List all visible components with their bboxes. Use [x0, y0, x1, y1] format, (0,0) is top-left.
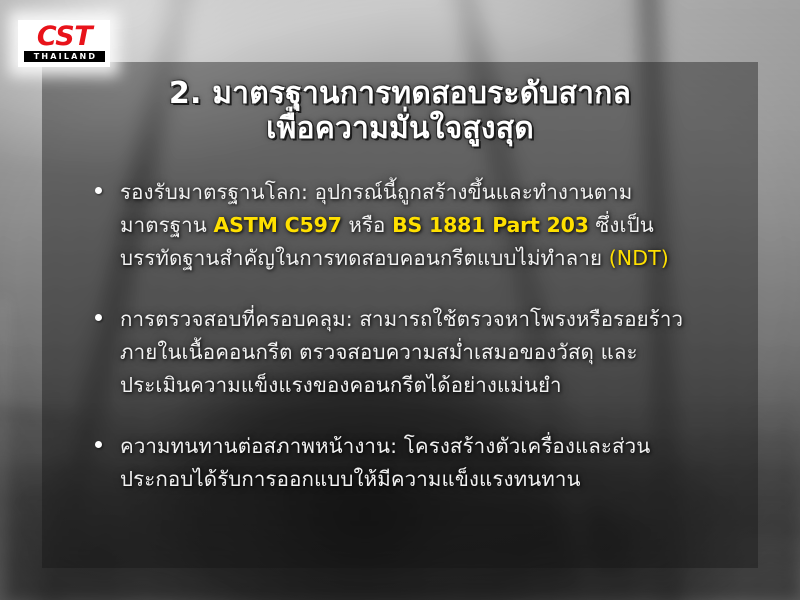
bullet-1-line-1: รองรับมาตรฐานโลก: อุปกรณ์นี้ถูกสร้างขึ้น…: [120, 176, 728, 209]
bullet-dot-icon: [95, 314, 102, 321]
bullet-1-line-2: มาตรฐาน ASTM C597 หรือ BS 1881 Part 203 …: [120, 209, 728, 242]
bullet-list: รองรับมาตรฐานโลก: อุปกรณ์นี้ถูกสร้างขึ้น…: [88, 176, 728, 496]
standard-astm-c597: ASTM C597: [214, 213, 342, 237]
bullet-3-line-2: ประกอบได้รับการออกแบบให้มีความแข็งแรงทนท…: [120, 463, 728, 496]
bullet-2-line-3: ประเมินความแข็งแรงของคอนกรีตได้อย่างแม่น…: [120, 369, 728, 402]
list-item: การตรวจสอบที่ครอบคลุม: สามารถใช้ตรวจหาโพ…: [88, 303, 728, 402]
bullet-dot-icon: [95, 441, 102, 448]
bullet-3-line-1: ความทนทานต่อสภาพหน้างาน: โครงสร้างตัวเคร…: [120, 430, 728, 463]
bullet-2-line-2: ภายในเนื้อคอนกรีต ตรวจสอบความสม่ำเสมอของ…: [120, 336, 728, 369]
title-line-1: 2. มาตรฐานการทดสอบระดับสากล: [60, 76, 740, 111]
bullet-1-line-2-post: ซึ่งเป็น: [589, 213, 654, 237]
bullet-1-line-3-pre: บรรทัดฐานสำคัญในการทดสอบคอนกรีตแบบไม่ทำล…: [120, 246, 609, 270]
list-item: ความทนทานต่อสภาพหน้างาน: โครงสร้างตัวเคร…: [88, 430, 728, 496]
acronym-ndt: (NDT): [609, 246, 669, 270]
standard-bs-1881-part-203: BS 1881 Part 203: [392, 213, 589, 237]
list-item: รองรับมาตรฐานโลก: อุปกรณ์นี้ถูกสร้างขึ้น…: [88, 176, 728, 275]
bullet-1-line-2-mid: หรือ: [342, 213, 392, 237]
cst-thailand-logo: CST THAILAND: [18, 20, 110, 67]
logo-primary-text: CST: [24, 24, 105, 50]
bullet-1-line-2-pre: มาตรฐาน: [120, 213, 214, 237]
bullet-dot-icon: [95, 187, 102, 194]
page-title: 2. มาตรฐานการทดสอบระดับสากล เพื่อความมั่…: [60, 76, 740, 146]
title-line-2: เพื่อความมั่นใจสูงสุด: [60, 111, 740, 146]
bullet-1-line-3: บรรทัดฐานสำคัญในการทดสอบคอนกรีตแบบไม่ทำล…: [120, 242, 728, 275]
bullet-2-line-1: การตรวจสอบที่ครอบคลุม: สามารถใช้ตรวจหาโพ…: [120, 303, 728, 336]
logo-secondary-text: THAILAND: [24, 51, 105, 62]
presentation-slide: CST THAILAND 2. มาตรฐานการทดสอบระดับสากล…: [0, 0, 800, 600]
